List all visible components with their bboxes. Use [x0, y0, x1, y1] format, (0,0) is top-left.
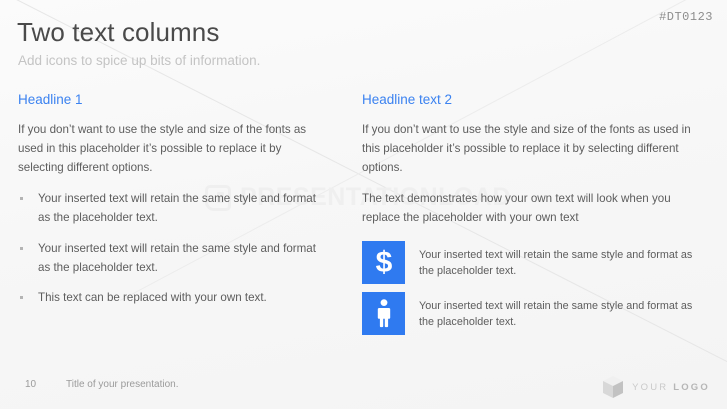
footer-logo-word-1: YOUR: [632, 382, 668, 393]
page-subtitle: Add icons to spice up bits of informatio…: [18, 53, 260, 68]
icon-row: $ Your inserted text will retain the sam…: [362, 241, 707, 284]
footer-logo-text: YOUR LOGO: [632, 382, 710, 393]
footer-logo-word-2: LOGO: [673, 382, 710, 393]
icon-row-list: $ Your inserted text will retain the sam…: [362, 241, 707, 335]
person-icon: [362, 292, 405, 335]
slide-footer: 10 Title of your presentation. YOUR LOGO: [0, 367, 727, 409]
svg-text:$: $: [375, 247, 392, 277]
list-item: Your inserted text will retain the same …: [18, 240, 325, 278]
slide-canvas: PRESENTATIONLOAD #DT0123 Two text column…: [0, 0, 727, 409]
two-column-body: Headline 1 If you don’t want to use the …: [0, 92, 727, 343]
page-title: Two text columns: [17, 17, 219, 48]
list-item-label: Your inserted text will retain the same …: [38, 242, 316, 274]
footer-logo: YOUR LOGO: [602, 375, 710, 399]
bullet-dot-icon: [20, 296, 23, 299]
list-item-label: This text can be replaced with your own …: [38, 291, 267, 304]
list-item: This text can be replaced with your own …: [18, 289, 325, 308]
left-column-paragraph: If you don’t want to use the style and s…: [18, 121, 325, 177]
left-column-bullet-list: Your inserted text will retain the same …: [18, 190, 325, 308]
footer-page-number: 10: [25, 379, 36, 390]
left-column: Headline 1 If you don’t want to use the …: [0, 92, 355, 343]
icon-row-label: Your inserted text will retain the same …: [405, 292, 707, 331]
document-id: #DT0123: [659, 10, 713, 24]
footer-presentation-title: Title of your presentation.: [66, 379, 178, 390]
right-column-paragraph-2: The text demonstrates how your own text …: [362, 190, 707, 228]
right-column: Headline text 2 If you don’t want to use…: [355, 92, 727, 343]
list-item: Your inserted text will retain the same …: [18, 190, 325, 228]
icon-row-label: Your inserted text will retain the same …: [405, 241, 707, 280]
dollar-icon: $: [362, 241, 405, 284]
bullet-dot-icon: [20, 197, 23, 200]
right-column-paragraph-1: If you don’t want to use the style and s…: [362, 121, 707, 177]
icon-row: Your inserted text will retain the same …: [362, 292, 707, 335]
left-column-headline: Headline 1: [18, 92, 325, 107]
cube-icon: [602, 375, 624, 399]
list-item-label: Your inserted text will retain the same …: [38, 192, 316, 224]
right-column-headline: Headline text 2: [362, 92, 707, 107]
bullet-dot-icon: [20, 247, 23, 250]
